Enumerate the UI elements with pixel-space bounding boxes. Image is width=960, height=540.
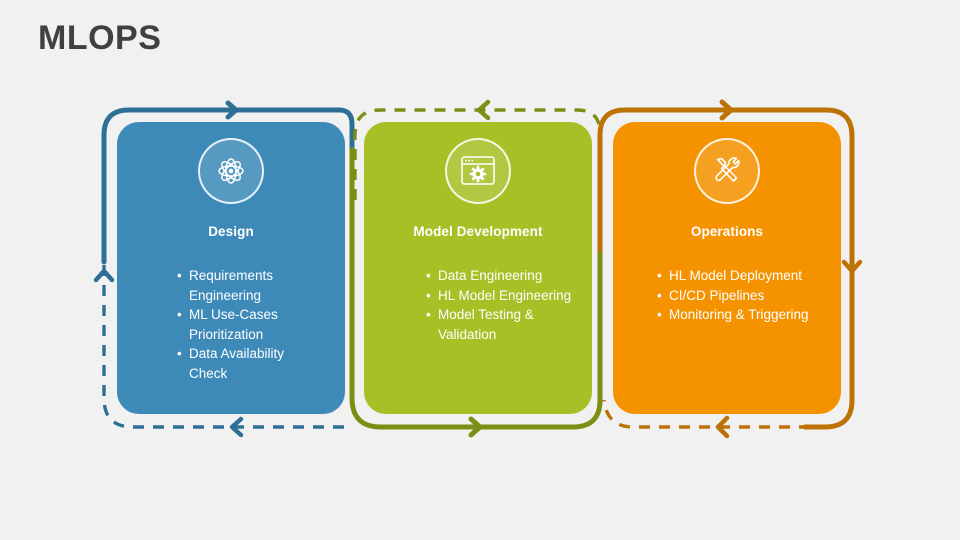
list-item: HL Model Engineering	[424, 286, 579, 306]
stage-title-model-development: Model Development	[364, 224, 592, 239]
list-item: Monitoring & Triggering	[655, 305, 830, 325]
stage-list-model-development: Data Engineering HL Model Engineering Mo…	[424, 266, 579, 344]
browser-gear-icon	[445, 138, 511, 204]
atom-icon	[198, 138, 264, 204]
list-item: Data Engineering	[424, 266, 579, 286]
list-item: ML Use-Cases Prioritization	[175, 305, 325, 344]
stage-list-operations: HL Model Deployment CI/CD Pipelines Moni…	[655, 266, 830, 325]
stage-cards: Design Requirements Engineering ML Use-C…	[0, 0, 960, 540]
stage-list-design: Requirements Engineering ML Use-Cases Pr…	[175, 266, 325, 383]
list-item: Model Testing & Validation	[424, 305, 579, 344]
list-item: Data Availability Check	[175, 344, 325, 383]
tools-icon	[694, 138, 760, 204]
stage-card-operations[interactable]: Operations HL Model Deployment CI/CD Pip…	[613, 122, 841, 414]
stage-title-design: Design	[117, 224, 345, 239]
stage-title-operations: Operations	[613, 224, 841, 239]
list-item: HL Model Deployment	[655, 266, 830, 286]
stage-card-design[interactable]: Design Requirements Engineering ML Use-C…	[117, 122, 345, 414]
list-item: CI/CD Pipelines	[655, 286, 830, 306]
list-item: Requirements Engineering	[175, 266, 325, 305]
stage-card-model-development[interactable]: Model Development Data Engineering HL Mo…	[364, 122, 592, 414]
